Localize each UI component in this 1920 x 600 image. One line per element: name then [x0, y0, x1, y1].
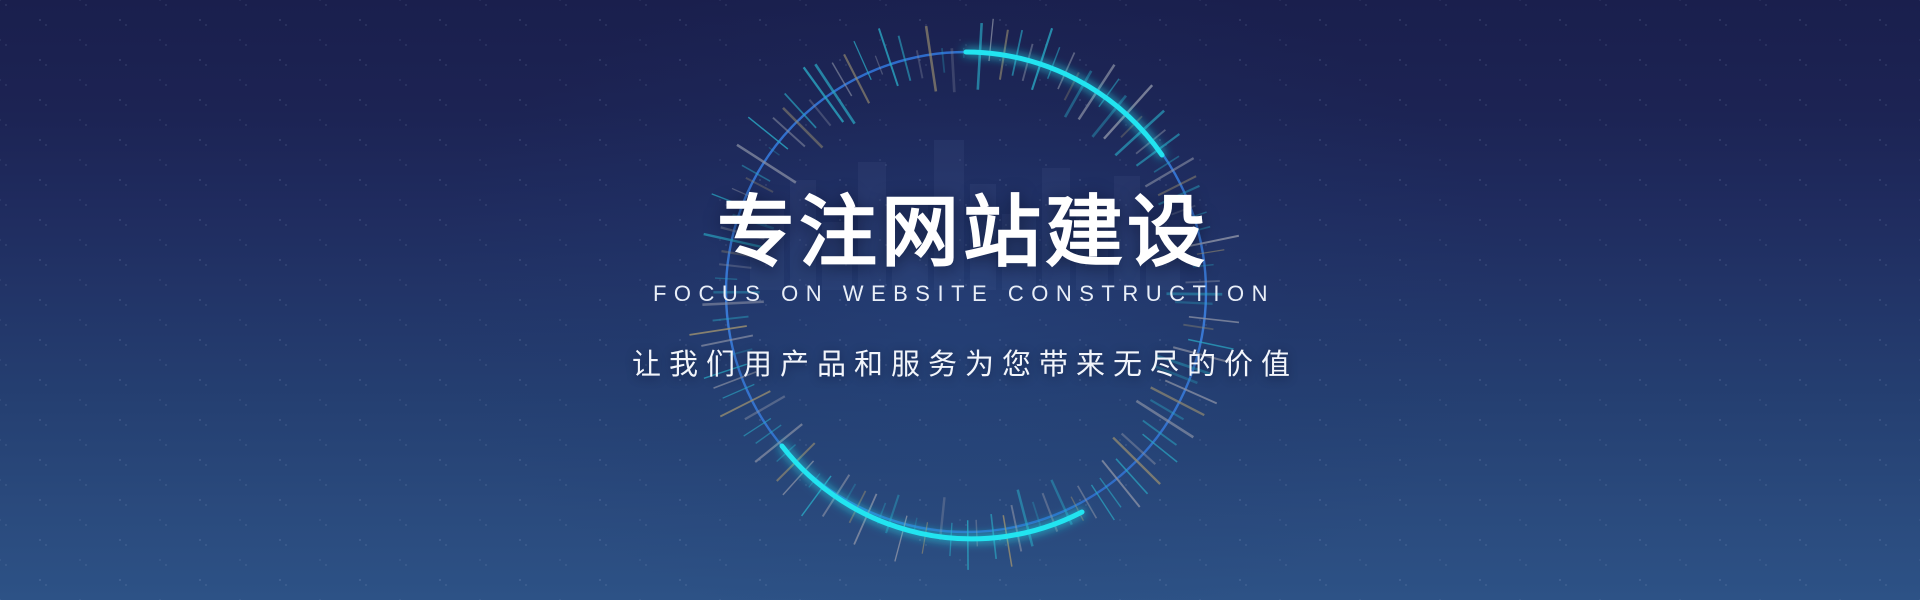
page-title: 专注网站建设 [711, 193, 1209, 271]
hero-banner: 专注网站建设 FOCUS ON WEBSITE CONSTRUCTION 让我们… [0, 0, 1920, 600]
banner-copy: 专注网站建设 FOCUS ON WEBSITE CONSTRUCTION 让我们… [0, 0, 1920, 600]
page-tagline: 让我们用产品和服务为您带来无尽的价值 [622, 341, 1298, 383]
page-subtitle-english: FOCUS ON WEBSITE CONSTRUCTION [645, 281, 1275, 307]
